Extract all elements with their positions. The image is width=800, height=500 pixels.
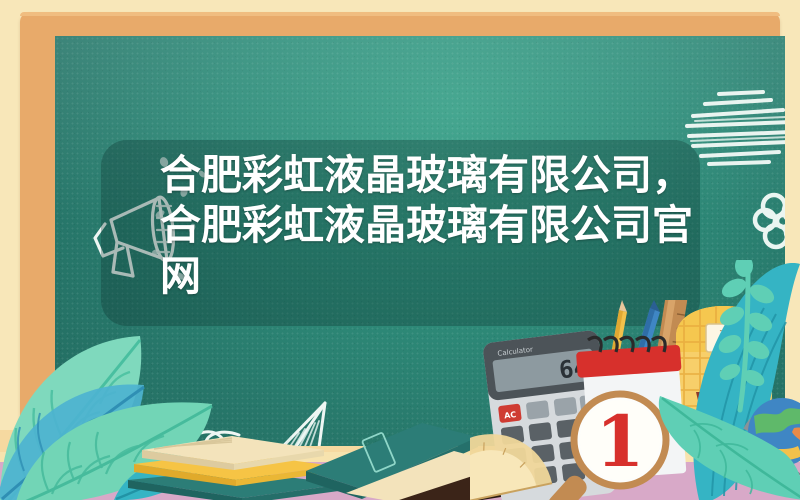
svg-text:AC: AC (504, 410, 517, 420)
page-title: 合肥彩虹液晶玻璃有限公司，合肥彩虹液晶玻璃有限公司官网 (160, 150, 720, 301)
banner-image: 合肥彩虹液晶玻璃有限公司，合肥彩虹液晶玻璃有限公司官网 (0, 0, 800, 500)
magnifier-number: 1 (596, 400, 645, 483)
flower-chalk-icon (747, 186, 785, 258)
leaf-icon-front-right (646, 392, 800, 500)
